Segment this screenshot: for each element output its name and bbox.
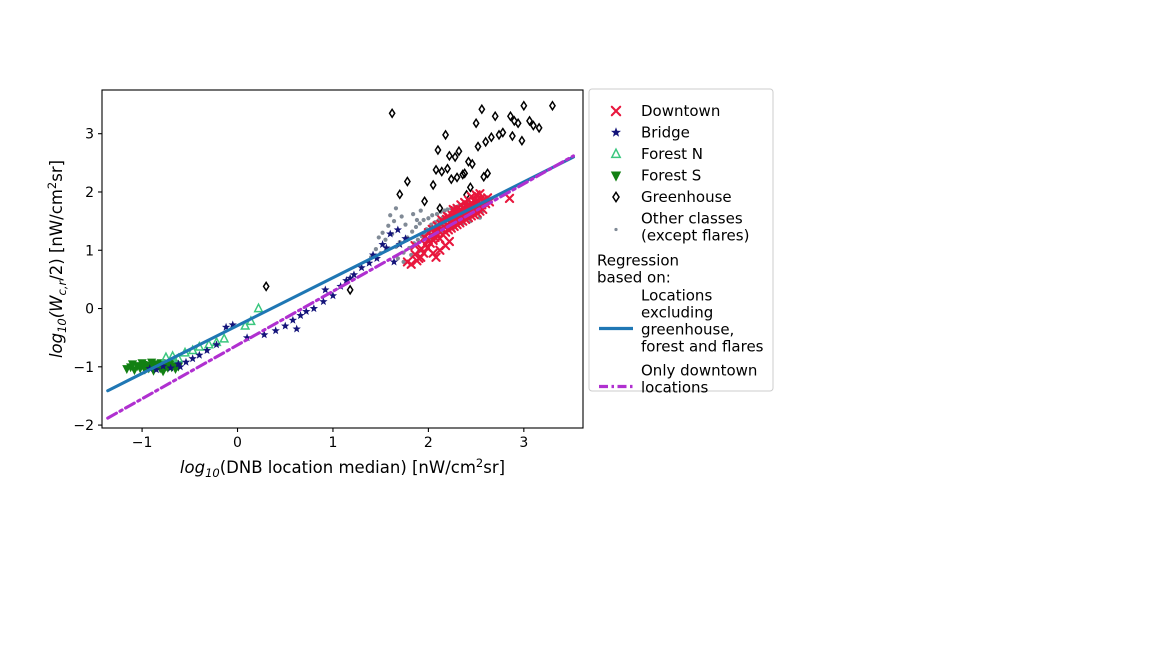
marker-dot: [386, 224, 390, 228]
legend-label: Bridge: [641, 124, 690, 142]
marker-dot: [392, 219, 396, 223]
legend-label: Forest S: [641, 167, 701, 185]
legend-label: Only downtown: [641, 362, 757, 380]
marker-dot: [383, 238, 387, 242]
marker-dot: [426, 216, 430, 220]
legend-label: (except flares): [641, 227, 749, 245]
marker-dot: [414, 225, 418, 229]
marker-dot: [418, 221, 422, 225]
marker-dot: [400, 214, 404, 218]
x-tick-label: −1: [132, 435, 153, 451]
marker-dot: [394, 206, 398, 210]
legend-label: excluding: [641, 304, 713, 322]
legend-label: Locations: [641, 287, 712, 305]
marker-dot: [411, 212, 415, 216]
x-axis-label: log10(DNB location median) [nW/cm2sr]: [180, 456, 505, 480]
marker-dot: [374, 247, 378, 251]
y-tick-label: −1: [73, 360, 94, 376]
y-tick-label: −2: [73, 418, 94, 434]
legend-regression-heading-line1: Regression: [597, 252, 679, 270]
legend: DowntownBridgeForest NForest SGreenhouse…: [589, 89, 773, 397]
marker-dot: [388, 213, 392, 217]
legend-label: Downtown: [641, 102, 720, 120]
marker-dot: [410, 230, 414, 234]
marker-dot: [415, 218, 419, 222]
legend-label: Greenhouse: [641, 188, 732, 206]
plot-axes: −10123−2−10123: [73, 90, 583, 451]
legend-regression-heading-line2: based on:: [597, 269, 671, 287]
marker-dot: [422, 218, 426, 222]
x-tick-label: 2: [424, 435, 433, 451]
y-tick-label: 2: [85, 185, 94, 201]
legend-label: forest and flares: [641, 338, 764, 356]
legend-label: locations: [641, 379, 709, 397]
legend-regression-heading: Regressionbased on:: [597, 252, 679, 287]
figure-container: −10123−2−10123 log10(DNB location median…: [0, 0, 1152, 648]
plot-frame: [102, 90, 583, 428]
x-tick-label: 3: [519, 435, 528, 451]
marker-dot: [380, 231, 384, 235]
marker-dot: [377, 235, 381, 239]
marker-dot: [430, 213, 434, 217]
x-axis-title: log10(DNB location median) [nW/cm2sr]: [180, 456, 505, 480]
scatter-plot: −10123−2−10123 log10(DNB location median…: [0, 0, 1152, 648]
x-tick-label: 1: [328, 435, 337, 451]
legend-label: Other classes: [641, 210, 743, 228]
marker-dot: [614, 228, 617, 231]
y-tick-label: 3: [85, 127, 94, 143]
legend-label: greenhouse,: [641, 321, 734, 339]
marker-dot: [419, 209, 423, 213]
legend-label: Forest N: [641, 145, 703, 163]
y-axis-label-group: log10(Wc,r/2) [nW/cm2sr]: [45, 160, 69, 358]
y-axis-label: log10(Wc,r/2) [nW/cm2sr]: [45, 160, 69, 358]
y-tick-label: 0: [85, 302, 94, 318]
x-tick-label: 0: [233, 435, 242, 451]
y-axis-title: log10(Wc,r/2) [nW/cm2sr]: [45, 160, 69, 358]
y-tick-label: 1: [85, 243, 94, 259]
marker-dot: [403, 223, 407, 227]
